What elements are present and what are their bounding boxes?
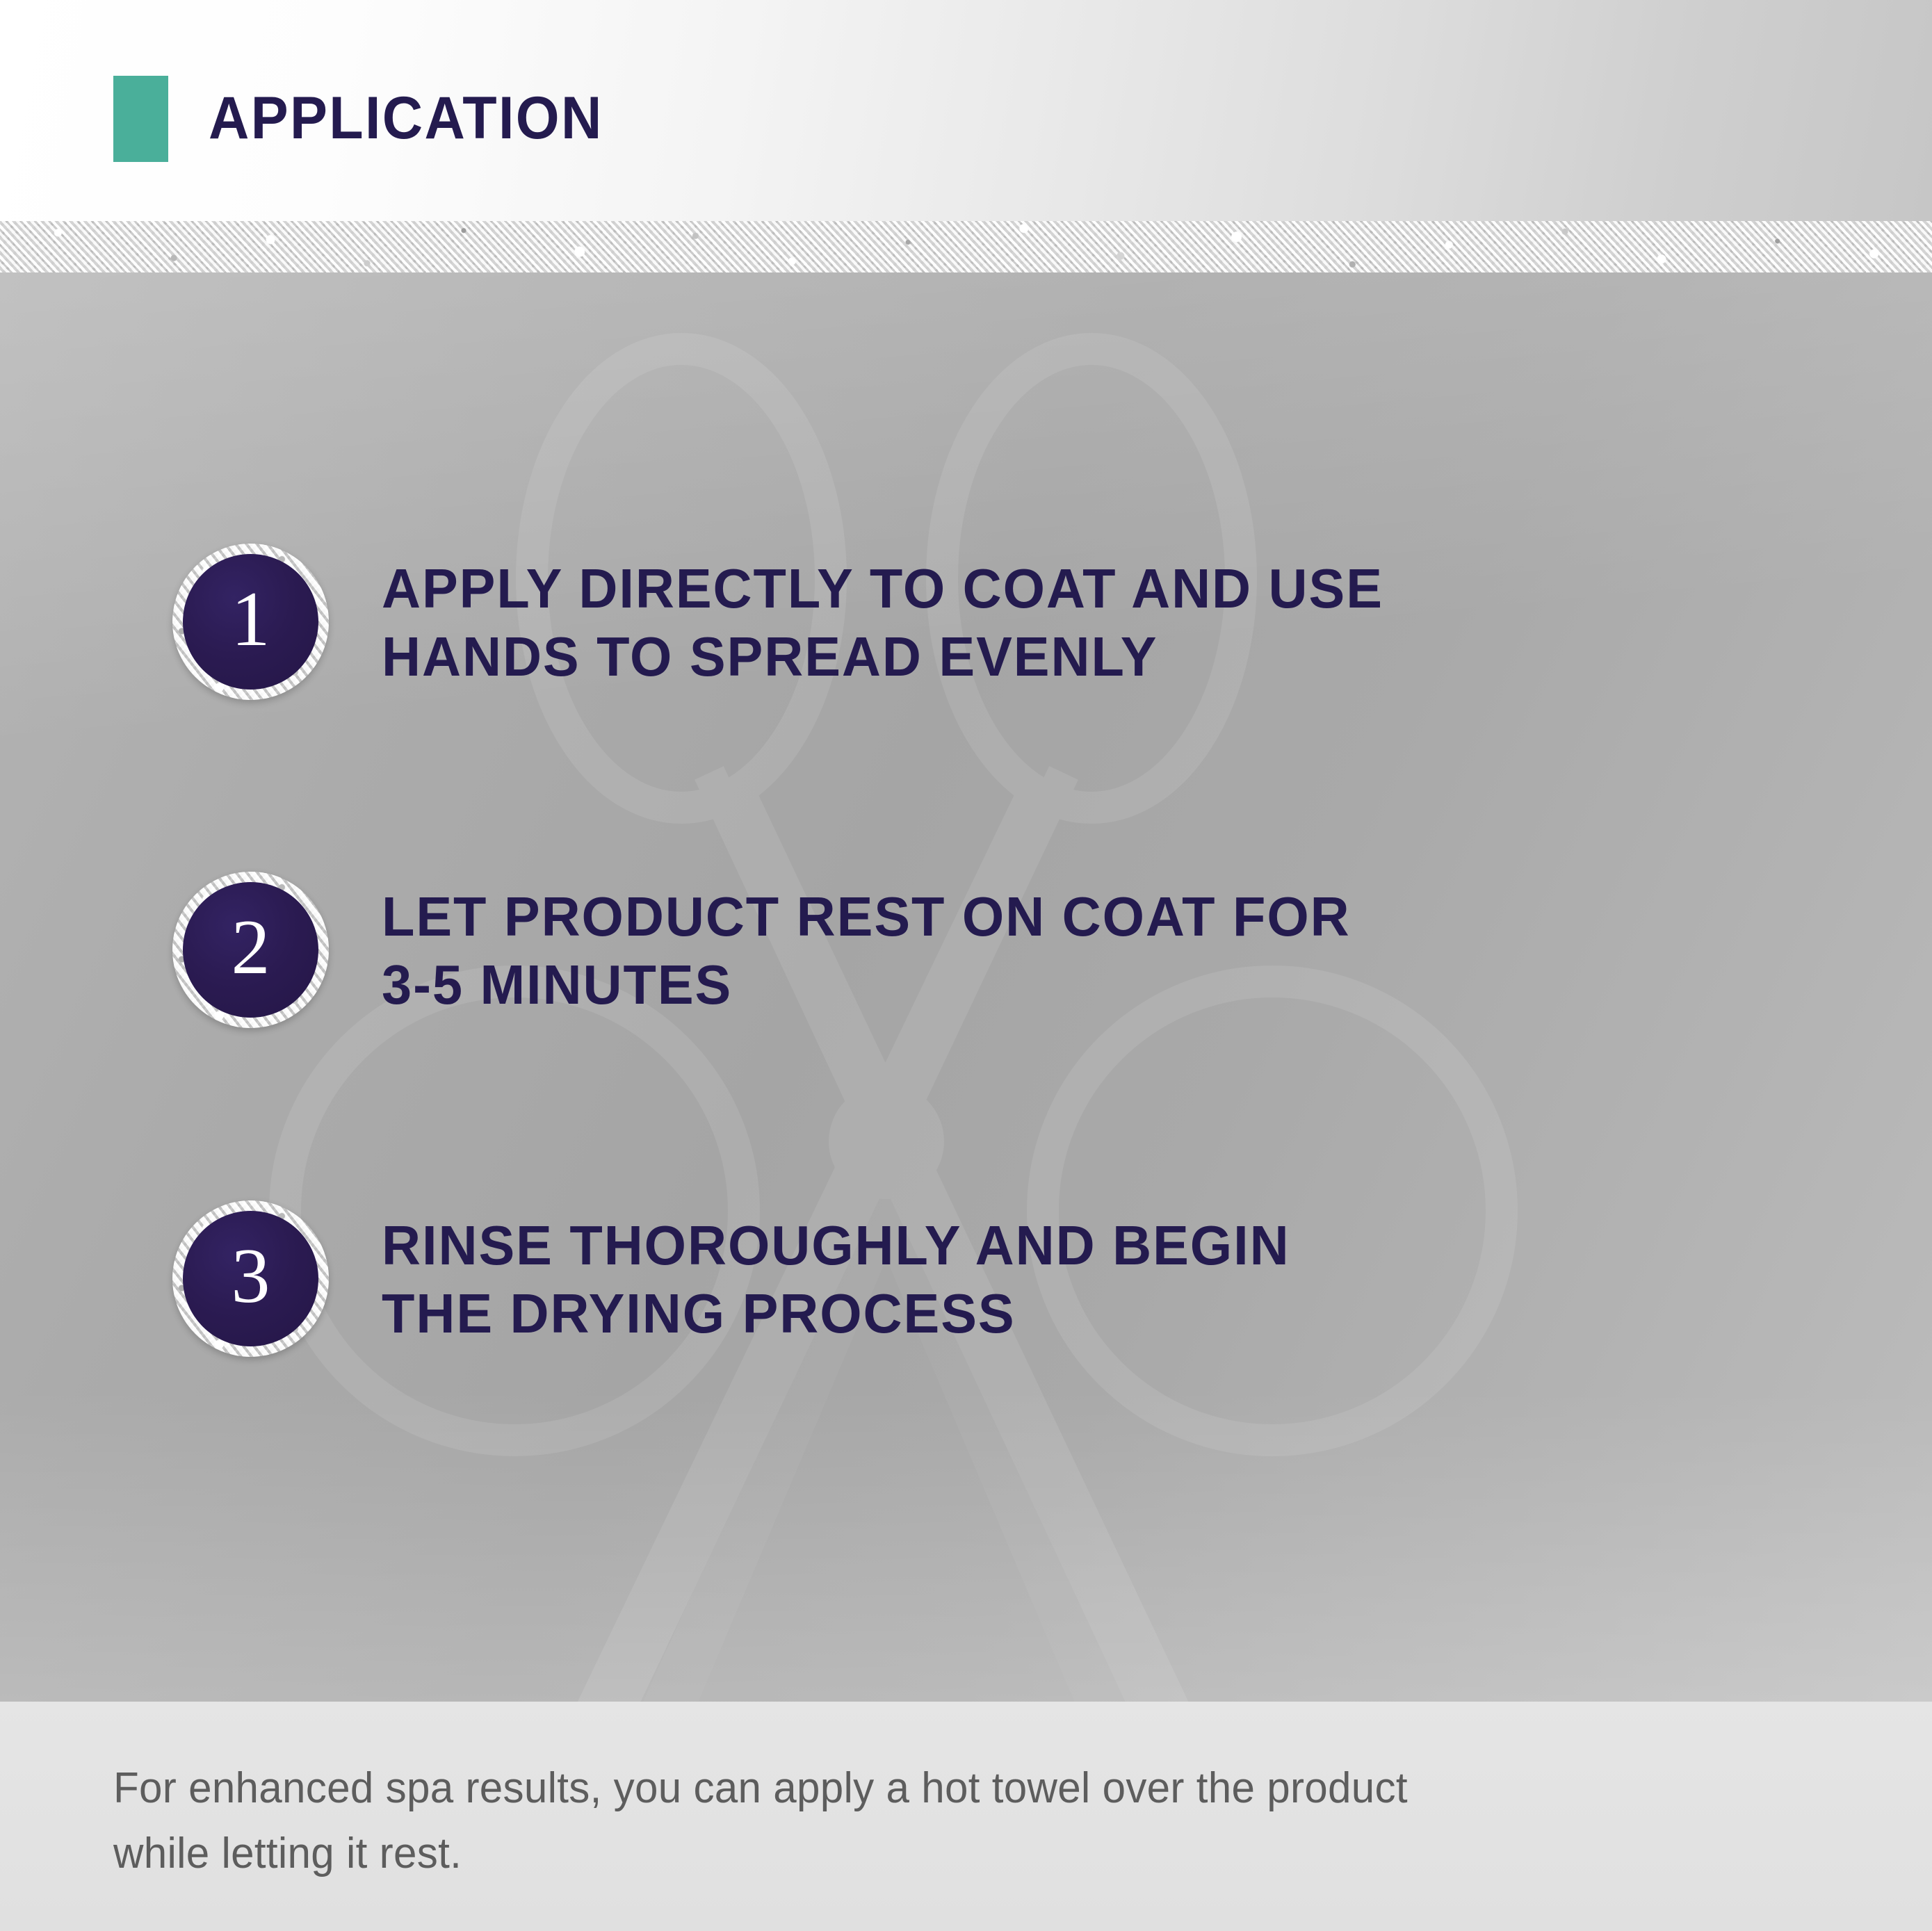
glitter-divider-band [0,221,1932,274]
step-2-line-2: 3-5 MINUTES [382,951,1351,1019]
step-item-1: 1 APPLY DIRECTLY TO COAT AND USE HANDS T… [172,544,1414,700]
footer-note-line-1: For enhanced spa results, you can apply … [113,1756,1664,1821]
step-item-2: 2 LET PRODUCT REST ON COAT FOR 3-5 MINUT… [172,872,1381,1028]
step-badge-core-2: 2 [183,882,318,1018]
step-text-2: LET PRODUCT REST ON COAT FOR 3-5 MINUTES [382,872,1381,1018]
step-3-line-2: THE DRYING PROCESS [382,1280,1290,1348]
application-instructions-slide: APPLICATION [0,0,1932,1931]
step-2-line-1: LET PRODUCT REST ON COAT FOR [382,883,1351,951]
footer-note-line-2: while letting it rest. [113,1821,1664,1887]
step-1-line-2: HANDS TO SPREAD EVENLY [382,623,1383,691]
step-3-line-1: RINSE THOROUGHLY AND BEGIN [382,1212,1290,1280]
step-badge-core-1: 1 [183,554,318,690]
step-badge-2: 2 [172,872,329,1028]
step-number-3: 3 [232,1237,270,1315]
step-text-3: RINSE THOROUGHLY AND BEGIN THE DRYING PR… [382,1200,1318,1347]
step-badge-1: 1 [172,544,329,700]
step-badge-core-3: 3 [183,1211,318,1346]
slide-header: APPLICATION [0,0,1932,222]
footer-note: For enhanced spa results, you can apply … [113,1756,1664,1887]
page-title: APPLICATION [209,75,603,161]
step-1-line-1: APPLY DIRECTLY TO COAT AND USE [382,555,1383,623]
step-number-1: 1 [232,580,270,658]
steps-panel: 1 APPLY DIRECTLY TO COAT AND USE HANDS T… [0,272,1932,1702]
slide-footer: For enhanced spa results, you can apply … [0,1702,1932,1931]
step-text-1: APPLY DIRECTLY TO COAT AND USE HANDS TO … [382,544,1414,690]
step-item-3: 3 RINSE THOROUGHLY AND BEGIN THE DRYING … [172,1200,1318,1357]
step-badge-3: 3 [172,1200,329,1357]
step-number-2: 2 [232,909,270,986]
header-accent-bar [113,76,168,162]
